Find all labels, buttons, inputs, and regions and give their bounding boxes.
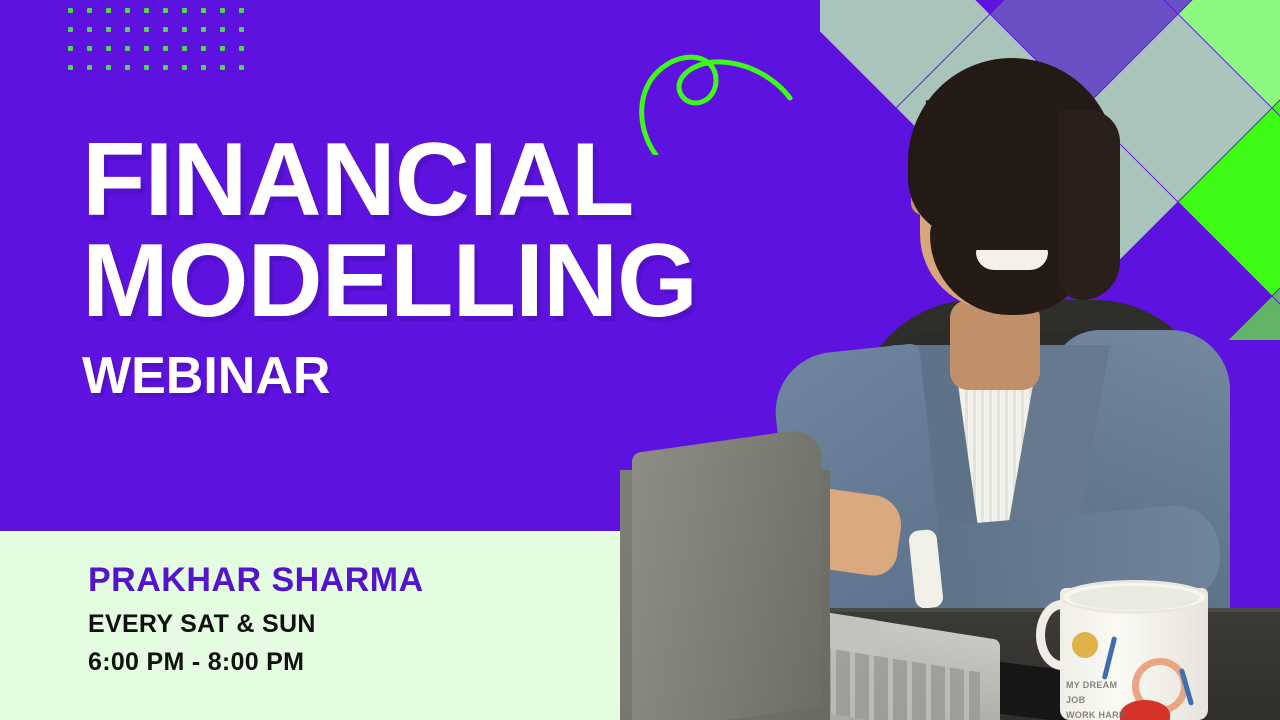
mug-sun-motif	[1072, 632, 1098, 658]
grid-dot	[144, 65, 149, 70]
grid-dot	[144, 8, 149, 13]
grid-dot	[182, 8, 187, 13]
mug-interior	[1069, 586, 1199, 610]
grid-dot	[163, 65, 168, 70]
presenter-info-block: PRAKHAR SHARMA EVERY SAT & SUN 6:00 PM -…	[88, 562, 608, 676]
grid-dot	[125, 65, 130, 70]
grid-dot	[182, 65, 187, 70]
grid-dot	[87, 65, 92, 70]
grid-dot	[201, 65, 206, 70]
grid-dot	[239, 27, 244, 32]
grid-dot	[220, 27, 225, 32]
laptop-lid	[632, 427, 822, 720]
grid-dot	[106, 46, 111, 51]
headline-block: FINANCIAL MODELLING WEBINAR	[82, 130, 782, 402]
grid-dot	[125, 46, 130, 51]
grid-dot	[87, 8, 92, 13]
grid-dot	[163, 8, 168, 13]
grid-dot	[68, 27, 73, 32]
grid-dot	[125, 8, 130, 13]
title-line-1: FINANCIAL	[82, 130, 782, 231]
grid-dot	[163, 46, 168, 51]
grid-dot	[239, 65, 244, 70]
grid-dot	[68, 46, 73, 51]
grid-dot	[144, 27, 149, 32]
grid-dot	[201, 27, 206, 32]
title-line-2: MODELLING	[82, 231, 782, 332]
smile	[976, 248, 1048, 270]
grid-dot	[201, 46, 206, 51]
grid-dot	[87, 27, 92, 32]
grid-dot	[220, 8, 225, 13]
grid-dot	[106, 8, 111, 13]
grid-dot	[144, 46, 149, 51]
subtitle: WEBINAR	[82, 350, 782, 402]
grid-dot	[163, 27, 168, 32]
grid-dot	[201, 8, 206, 13]
mug-printed-text: MY DREAM JOB WORK HARD	[1066, 678, 1132, 710]
grid-dot	[220, 65, 225, 70]
grid-dot	[87, 46, 92, 51]
schedule-days: EVERY SAT & SUN	[88, 611, 608, 639]
hair-side-lock	[1058, 110, 1120, 300]
presenter-name: PRAKHAR SHARMA	[88, 562, 608, 599]
grid-dot	[220, 46, 225, 51]
grid-dot	[239, 46, 244, 51]
webinar-poster: MY DREAM JOB WORK HARD FINANCIAL MODELLI…	[0, 0, 1280, 720]
grid-dot	[125, 27, 130, 32]
mug-text-line-1: MY DREAM JOB	[1066, 678, 1132, 708]
grid-dot	[239, 8, 244, 13]
schedule-time: 6:00 PM - 8:00 PM	[88, 649, 608, 677]
grid-dot	[106, 27, 111, 32]
grid-dot	[106, 65, 111, 70]
mug-text-line-2: WORK HARD	[1066, 708, 1132, 720]
grid-dot	[68, 65, 73, 70]
grid-dot	[182, 46, 187, 51]
dot-grid-decoration	[68, 8, 244, 70]
grid-dot	[182, 27, 187, 32]
grid-dot	[68, 8, 73, 13]
